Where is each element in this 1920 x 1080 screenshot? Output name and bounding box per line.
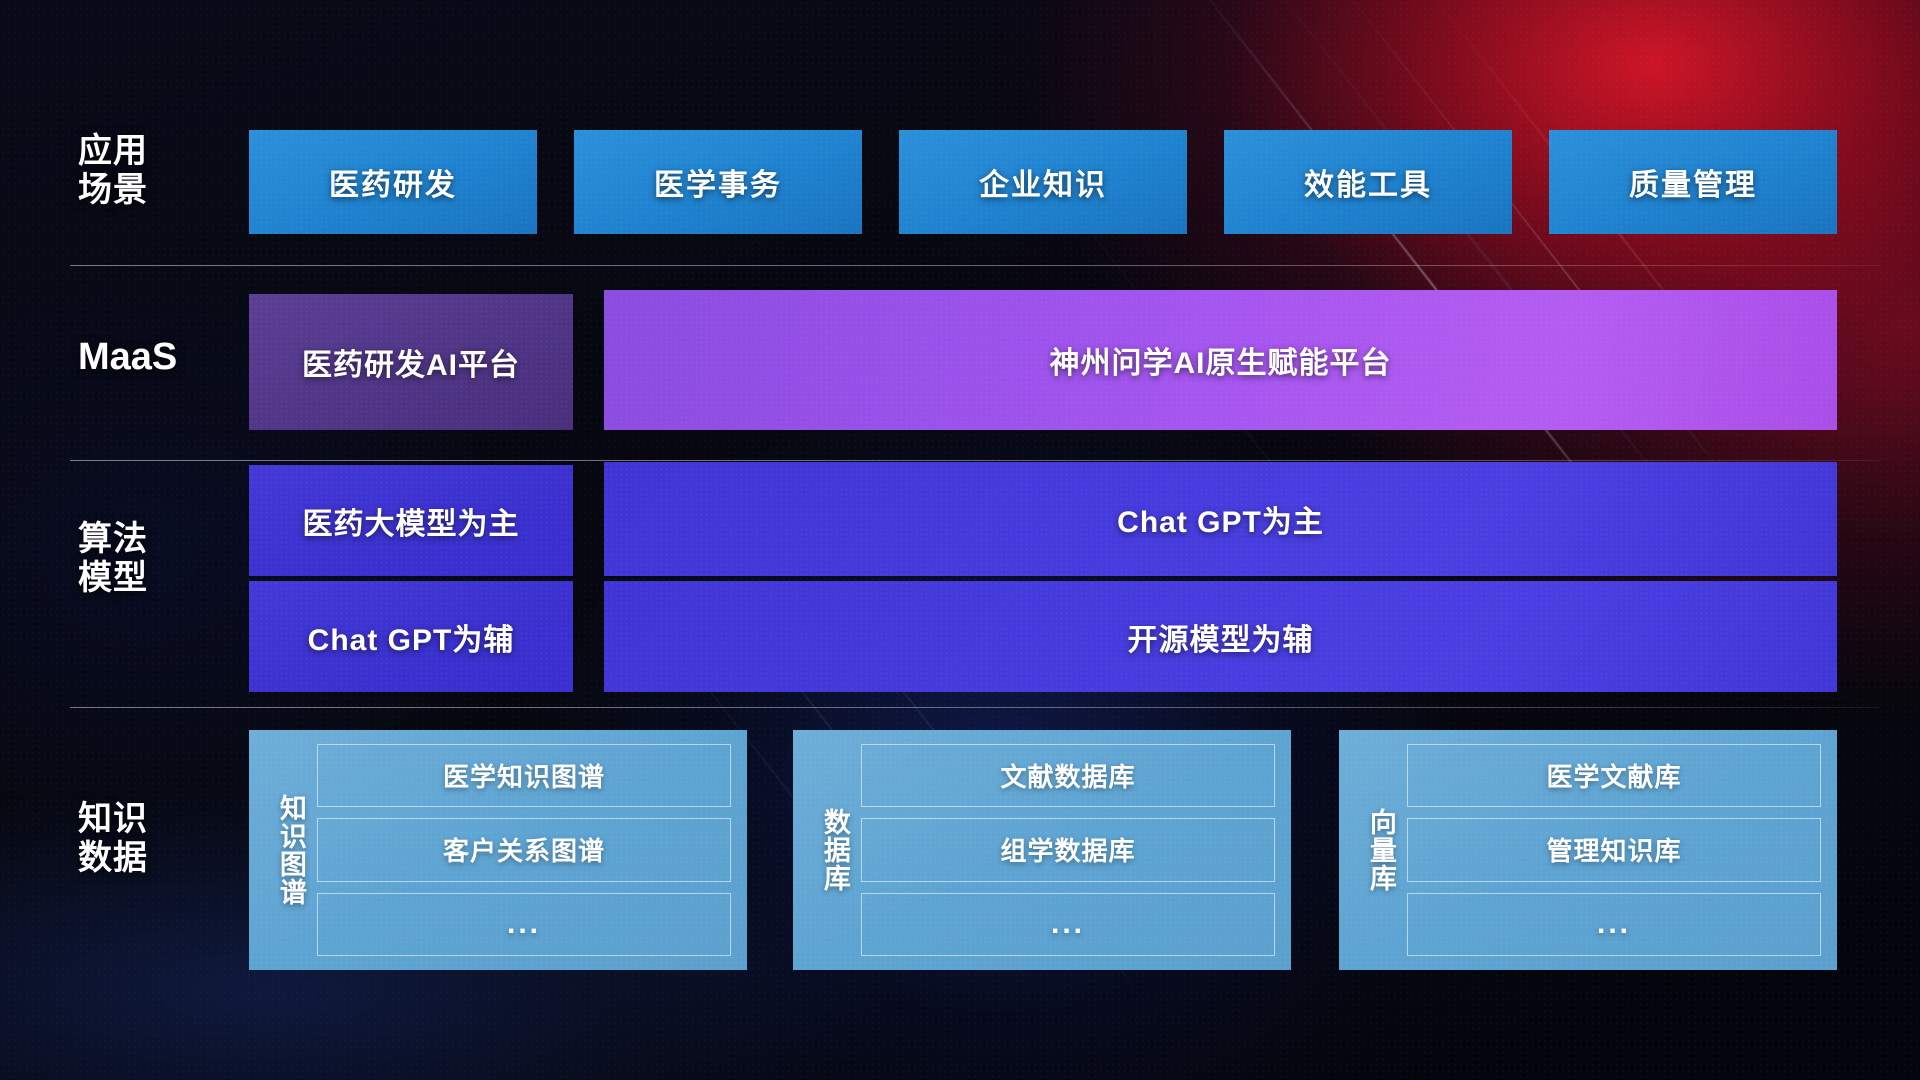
divider-after-application-scenarios [70, 265, 1880, 266]
divider-after-algorithm-model [70, 707, 1880, 708]
knowledge-panel-items: 医学知识图谱 客户关系图谱 ... [317, 744, 731, 956]
knowledge-item-more[interactable]: ... [861, 893, 1275, 956]
knowledge-item-label: 组学数据库 [1000, 831, 1135, 868]
algo-box-opensource-secondary[interactable]: 开源模型为辅 [604, 581, 1837, 692]
app-box-enterprise-knowledge[interactable]: 企业知识 [899, 130, 1187, 234]
app-box-medical-affairs[interactable]: 医学事务 [574, 130, 862, 234]
knowledge-item[interactable]: 管理知识库 [1407, 818, 1821, 881]
app-box-efficiency-tools[interactable]: 效能工具 [1224, 130, 1512, 234]
row-label-line: 知识 [78, 800, 206, 839]
knowledge-item-label: ... [1597, 907, 1631, 941]
knowledge-item-more[interactable]: ... [1407, 893, 1821, 956]
knowledge-item-label: 医学知识图谱 [443, 757, 605, 794]
maas-box-shenzhou-wenxue-platform[interactable]: 神州问学AI原生赋能平台 [604, 290, 1837, 430]
knowledge-panel-side-label-text: 向量库 [1364, 808, 1396, 892]
divider-after-maas [70, 460, 1880, 461]
algo-box-label: 开源模型为辅 [1128, 615, 1314, 659]
row-label-line: 算法 [78, 520, 206, 559]
row-label-line: 场景 [78, 171, 206, 210]
app-box-quality-management[interactable]: 质量管理 [1549, 130, 1837, 234]
knowledge-panel-database[interactable]: 数据库 文献数据库 组学数据库 ... [793, 730, 1291, 970]
knowledge-panel-knowledge-graph[interactable]: 知识图谱 医学知识图谱 客户关系图谱 ... [249, 730, 747, 970]
row-label-application-scenarios: 应用 场景 [78, 132, 206, 210]
app-box-medicine-rd[interactable]: 医药研发 [249, 130, 537, 234]
row-label-maas: MaaS [78, 336, 206, 379]
knowledge-panel-side-label-text: 知识图谱 [274, 794, 306, 906]
knowledge-item-label: 管理知识库 [1546, 831, 1681, 868]
algo-box-chatgpt-secondary[interactable]: Chat GPT为辅 [249, 581, 573, 692]
architecture-diagram: 应用 场景 医药研发 医学事务 企业知识 效能工具 质量管理 MaaS 医药研发… [0, 0, 1920, 1080]
algo-box-label: Chat GPT为辅 [308, 615, 515, 659]
row-label-line: MaaS [78, 336, 206, 379]
knowledge-panel-items: 医学文献库 管理知识库 ... [1407, 744, 1821, 956]
knowledge-item-label: ... [507, 907, 541, 941]
knowledge-item[interactable]: 医学文献库 [1407, 744, 1821, 807]
maas-box-label: 医药研发AI平台 [302, 340, 520, 384]
algo-box-label: 医药大模型为主 [303, 499, 520, 543]
knowledge-panel-side-label-text: 数据库 [818, 808, 850, 892]
knowledge-item-label: 医学文献库 [1546, 757, 1681, 794]
knowledge-panel-items: 文献数据库 组学数据库 ... [861, 744, 1275, 956]
row-label-algorithm-model: 算法 模型 [78, 520, 206, 598]
knowledge-item[interactable]: 组学数据库 [861, 818, 1275, 881]
row-label-knowledge-data: 知识 数据 [78, 800, 206, 878]
row-label-line: 应用 [78, 132, 206, 171]
knowledge-panel-side-label: 知识图谱 [263, 744, 317, 956]
algo-box-label: Chat GPT为主 [1117, 497, 1324, 541]
knowledge-item[interactable]: 医学知识图谱 [317, 744, 731, 807]
knowledge-panel-side-label: 向量库 [1353, 744, 1407, 956]
app-box-label: 医药研发 [329, 160, 457, 204]
row-label-line: 模型 [78, 559, 206, 598]
knowledge-item-label: 文献数据库 [1000, 757, 1135, 794]
knowledge-item-more[interactable]: ... [317, 893, 731, 956]
app-box-label: 质量管理 [1629, 160, 1757, 204]
app-box-label: 医学事务 [654, 160, 782, 204]
app-box-label: 企业知识 [979, 160, 1107, 204]
maas-box-label: 神州问学AI原生赋能平台 [1050, 338, 1392, 382]
maas-box-pharma-ai-platform[interactable]: 医药研发AI平台 [249, 294, 573, 430]
knowledge-item[interactable]: 客户关系图谱 [317, 818, 731, 881]
row-label-line: 数据 [78, 839, 206, 878]
algo-box-chatgpt-primary[interactable]: Chat GPT为主 [604, 462, 1837, 576]
app-box-label: 效能工具 [1304, 160, 1432, 204]
knowledge-item-label: 客户关系图谱 [443, 831, 605, 868]
knowledge-panel-side-label: 数据库 [807, 744, 861, 956]
algo-box-pharma-llm-primary[interactable]: 医药大模型为主 [249, 465, 573, 576]
knowledge-item[interactable]: 文献数据库 [861, 744, 1275, 807]
knowledge-item-label: ... [1051, 907, 1085, 941]
knowledge-panel-vector-store[interactable]: 向量库 医学文献库 管理知识库 ... [1339, 730, 1837, 970]
